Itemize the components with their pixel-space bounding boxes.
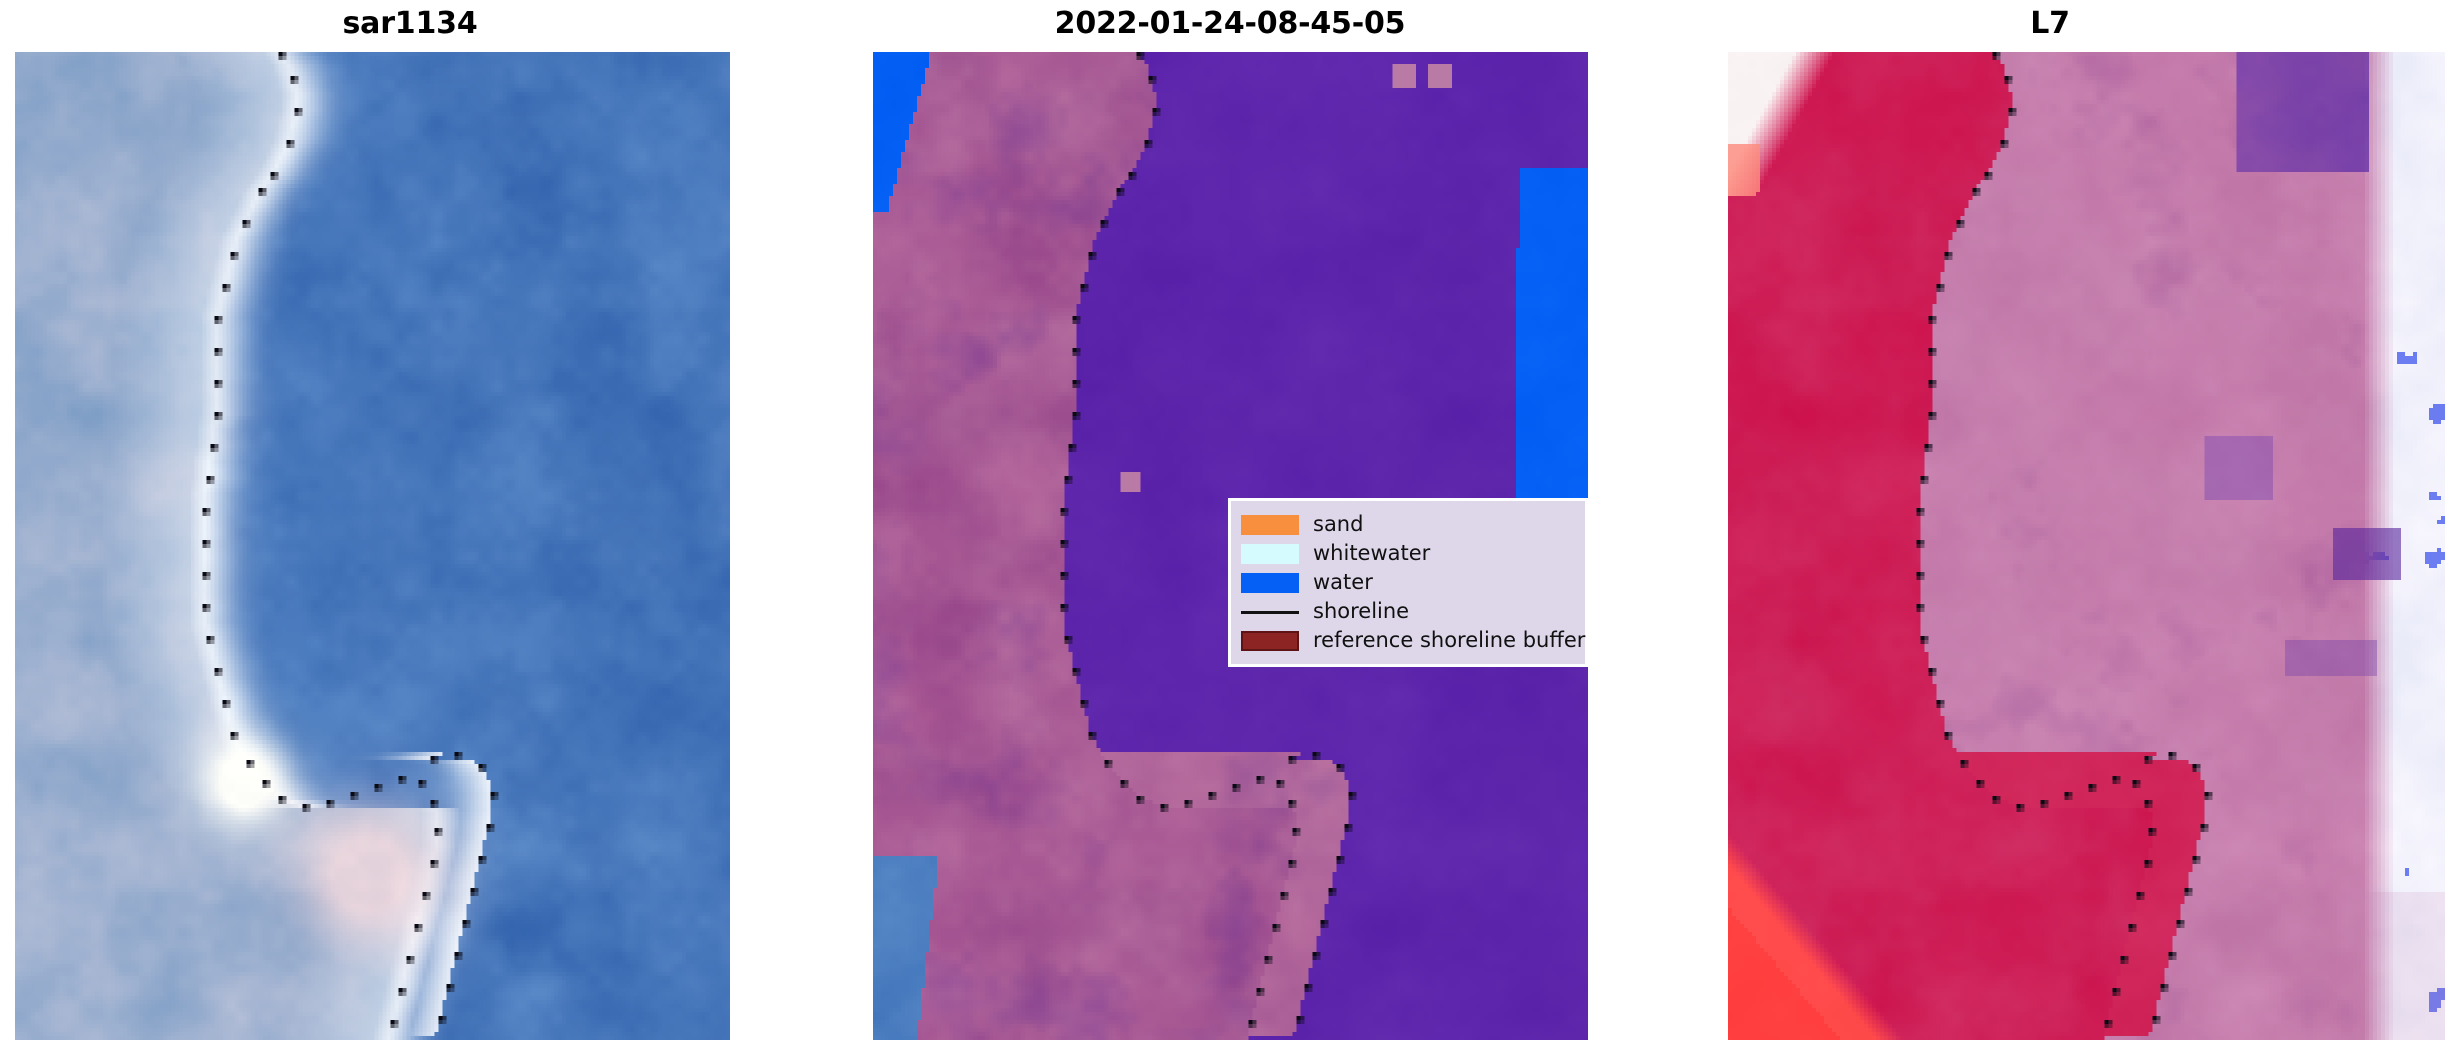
legend-item-shoreline: shoreline	[1241, 597, 1575, 626]
figure-root: sar1134 2022-01-24-08-45-05 sand whitewa…	[0, 0, 2460, 1059]
panel-title-classified: 2022-01-24-08-45-05	[820, 4, 1640, 44]
panel-title-l7: L7	[1640, 4, 2460, 44]
buffer-swatch-icon	[1241, 631, 1299, 651]
legend-label-shoreline: shoreline	[1313, 600, 1409, 623]
panel-l7: L7	[1640, 0, 2460, 1059]
legend-label-whitewater: whitewater	[1313, 542, 1430, 565]
panel-classified: 2022-01-24-08-45-05 sand whitewater wate…	[820, 0, 1640, 1059]
axes-l7	[1728, 52, 2445, 1040]
water-swatch-icon	[1241, 573, 1299, 593]
legend-label-buffer: reference shoreline buffer	[1313, 629, 1585, 652]
legend-box: sand whitewater water shoreline referenc…	[1228, 498, 1588, 667]
legend-label-water: water	[1313, 571, 1373, 594]
shoreline-line-icon	[1241, 602, 1299, 622]
panel-sar: sar1134	[0, 0, 820, 1059]
legend-item-buffer: reference shoreline buffer	[1241, 626, 1575, 655]
panel-title-sar: sar1134	[0, 4, 820, 44]
legend-item-whitewater: whitewater	[1241, 539, 1575, 568]
sar-image	[15, 52, 730, 1040]
legend-item-water: water	[1241, 568, 1575, 597]
whitewater-swatch-icon	[1241, 544, 1299, 564]
legend-item-sand: sand	[1241, 510, 1575, 539]
l7-image	[1728, 52, 2445, 1040]
legend-label-sand: sand	[1313, 513, 1363, 536]
axes-sar	[15, 52, 730, 1040]
sand-swatch-icon	[1241, 515, 1299, 535]
